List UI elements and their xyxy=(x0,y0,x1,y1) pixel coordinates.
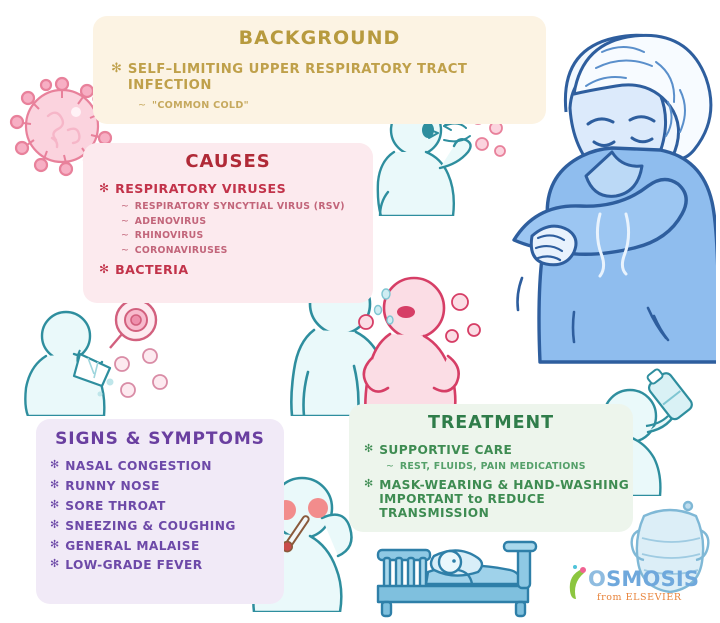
sub-mark-icon: ~ xyxy=(121,216,129,227)
causes-list: ✻ RESPIRATORY VIRUSES ~ RESPIRATORY SYNC… xyxy=(99,182,373,278)
causes-subitem: ~ CORONAVIRUSES xyxy=(121,245,373,256)
bullet-mark-icon: ✻ xyxy=(99,263,109,275)
causes-subitem-label: RESPIRATORY SYNCYTIAL VIRUS (RSV) xyxy=(135,201,345,212)
causes-subitem-label: ADENOVIRUS xyxy=(135,216,207,227)
signs-symptom-item: ✻ GENERAL MALAISE xyxy=(50,539,284,553)
background-title: BACKGROUND xyxy=(93,27,546,49)
causes-panel: CAUSES ✻ RESPIRATORY VIRUSES ~ RESPIRATO… xyxy=(83,143,373,303)
bullet-mark-icon: ✻ xyxy=(50,558,59,569)
bullet-mark-icon: ✻ xyxy=(364,443,373,454)
bullet-mark-icon: ✻ xyxy=(364,478,373,489)
treatment-item: ✻ SUPPORTIVE CARE xyxy=(364,443,633,457)
osmosis-brand-rest: SMOSIS xyxy=(606,567,699,591)
osmosis-brand-cap: O xyxy=(588,567,606,591)
signs-symptom-item: ✻ SORE THROAT xyxy=(50,499,284,513)
causes-subitem-label: CORONAVIRUSES xyxy=(135,245,228,256)
sub-mark-icon: ~ xyxy=(138,100,146,112)
child-resting-in-crib-icon xyxy=(372,528,562,620)
osmosis-logo[interactable]: OSMOSIS from ELSEVIER xyxy=(566,563,712,611)
causes-item: ✻ BACTERIA xyxy=(99,263,373,278)
background-sub-text: "COMMON COLD" xyxy=(152,100,249,112)
causes-item: ✻ RESPIRATORY VIRUSES xyxy=(99,182,373,197)
infographic-canvas: BACKGROUND ✻ SELF–LIMITING UPPER RESPIRA… xyxy=(0,0,720,623)
treatment-panel: TREATMENT ✻ SUPPORTIVE CARE ~ REST, FLUI… xyxy=(349,404,633,532)
treatment-item-label: SUPPORTIVE CARE xyxy=(379,443,512,457)
background-main-text: SELF–LIMITING UPPER RESPIRATORY TRACT IN… xyxy=(128,62,546,93)
signs-symptom-label: SORE THROAT xyxy=(65,499,166,513)
bullet-mark-icon: ✻ xyxy=(50,479,59,490)
figure-blowing-nose-icon xyxy=(18,298,184,416)
signs-symptoms-title: SIGNS & SYMPTOMS xyxy=(36,429,284,449)
treatment-item-line-2: IMPORTANT to REDUCE TRANSMISSION xyxy=(379,492,633,520)
signs-symptoms-list: ✻ NASAL CONGESTION ✻ RUNNY NOSE ✻ SORE T… xyxy=(50,459,284,573)
signs-symptom-item: ✻ SNEEZING & COUGHING xyxy=(50,519,284,533)
causes-subitem: ~ RESPIRATORY SYNCYTIAL VIRUS (RSV) xyxy=(121,201,373,212)
causes-subitem: ~ RHINOVIRUS xyxy=(121,230,373,241)
osmosis-leaf-icon xyxy=(566,565,590,599)
treatment-item: ✻ MASK-WEARING & HAND-WASHING IMPORTANT … xyxy=(364,478,633,520)
treatment-list: ✻ SUPPORTIVE CARE ~ REST, FLUIDS, PAIN M… xyxy=(364,443,633,520)
bullet-mark-icon: ✻ xyxy=(50,459,59,470)
treatment-item-label-block: MASK-WEARING & HAND-WASHING IMPORTANT to… xyxy=(379,478,633,520)
treatment-subitem-label: REST, FLUIDS, PAIN MEDICATIONS xyxy=(400,461,586,472)
signs-symptom-label: RUNNY NOSE xyxy=(65,479,160,493)
causes-title: CAUSES xyxy=(83,151,373,172)
signs-symptom-label: LOW-GRADE FEVER xyxy=(65,558,202,572)
background-sub-bullet: ~ "COMMON COLD" xyxy=(138,100,546,112)
causes-subitem: ~ ADENOVIRUS xyxy=(121,216,373,227)
signs-symptom-item: ✻ NASAL CONGESTION xyxy=(50,459,284,473)
bullet-mark-icon: ✻ xyxy=(50,499,59,510)
bullet-mark-icon: ✻ xyxy=(111,62,122,75)
bullet-mark-icon: ✻ xyxy=(99,182,109,194)
signs-symptoms-panel: SIGNS & SYMPTOMS ✻ NASAL CONGESTION ✻ RU… xyxy=(36,419,284,604)
signs-symptom-label: SNEEZING & COUGHING xyxy=(65,519,236,533)
signs-symptom-label: NASAL CONGESTION xyxy=(65,459,212,473)
treatment-item-line-1: MASK-WEARING & HAND-WASHING xyxy=(379,478,633,492)
bullet-mark-icon: ✻ xyxy=(50,539,59,550)
sub-mark-icon: ~ xyxy=(121,230,129,241)
treatment-title: TREATMENT xyxy=(349,413,633,433)
figure-coughing-pink-icon xyxy=(356,272,486,418)
osmosis-wordmark: OSMOSIS xyxy=(588,567,699,591)
background-panel: BACKGROUND ✻ SELF–LIMITING UPPER RESPIRA… xyxy=(93,16,546,124)
treatment-subitem: ~ REST, FLUIDS, PAIN MEDICATIONS xyxy=(386,461,633,472)
sub-mark-icon: ~ xyxy=(121,245,129,256)
sub-mark-icon: ~ xyxy=(386,461,394,472)
signs-symptom-item: ✻ RUNNY NOSE xyxy=(50,479,284,493)
causes-item-label: RESPIRATORY VIRUSES xyxy=(115,182,286,197)
causes-item-label: BACTERIA xyxy=(115,263,188,278)
causes-subitem-label: RHINOVIRUS xyxy=(135,230,204,241)
background-main-bullet: ✻ SELF–LIMITING UPPER RESPIRATORY TRACT … xyxy=(111,62,546,93)
sub-mark-icon: ~ xyxy=(121,201,129,212)
signs-symptom-item: ✻ LOW-GRADE FEVER xyxy=(50,558,284,572)
bullet-mark-icon: ✻ xyxy=(50,519,59,530)
signs-symptom-label: GENERAL MALAISE xyxy=(65,539,199,553)
osmosis-tagline: from ELSEVIER xyxy=(597,592,682,603)
